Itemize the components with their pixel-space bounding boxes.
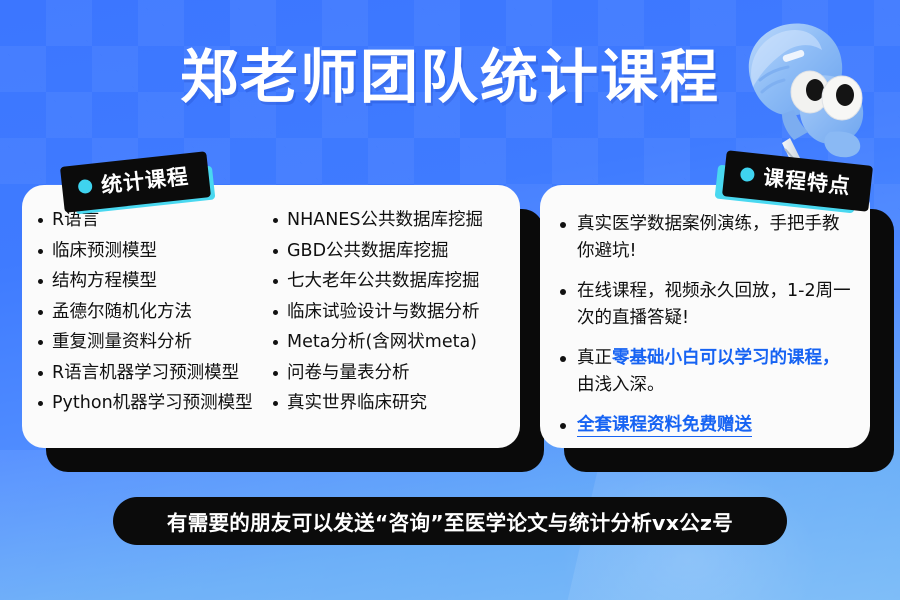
list-item-label: 真实世界临床研究 bbox=[287, 390, 427, 416]
bullet-dot-icon bbox=[273, 279, 278, 284]
list-item-label: Meta分析(含网状meta) bbox=[287, 329, 477, 355]
list-item: 问卷与量表分析 bbox=[273, 360, 504, 386]
bullet-dot-icon bbox=[273, 218, 278, 223]
bullet-dot-icon bbox=[38, 310, 43, 315]
list-item-label: 临床预测模型 bbox=[52, 238, 157, 264]
list-item: GBD公共数据库挖掘 bbox=[273, 238, 504, 264]
bullet-dot-icon bbox=[38, 340, 43, 345]
list-item: NHANES公共数据库挖掘 bbox=[273, 207, 504, 233]
bullet-dot-icon bbox=[560, 289, 566, 295]
contact-banner-label: 有需要的朋友可以发送“咨询”至医学论文与统计分析vx公z号 bbox=[167, 506, 733, 536]
list-item-label: GBD公共数据库挖掘 bbox=[287, 238, 449, 264]
feature-item: 真实医学数据案例演练，手把手教你避坑! bbox=[560, 211, 852, 265]
statistics-courses-card: R语言 临床预测模型 结构方程模型 孟德尔随机化方法 重复测量资料分析 R语言机… bbox=[22, 185, 520, 448]
bullet-dot-icon bbox=[273, 249, 278, 254]
feature-text-plain: 在线课程，视频永久回放，1-2周一次的直播答疑! bbox=[577, 281, 851, 328]
cyan-dot-icon bbox=[740, 167, 755, 182]
poster-root: 郑老师团队统计课程 bbox=[0, 0, 900, 600]
list-item: R语言机器学习预测模型 bbox=[38, 360, 269, 386]
feature-text: 全套课程资料免费赠送 bbox=[577, 412, 752, 439]
list-item-label: 七大老年公共数据库挖掘 bbox=[287, 268, 480, 294]
list-item-label: Python机器学习预测模型 bbox=[52, 390, 253, 416]
bullet-dot-icon bbox=[273, 310, 278, 315]
list-item: Python机器学习预测模型 bbox=[38, 390, 269, 416]
feature-text-highlight: 零基础小白可以学习的课程， bbox=[612, 348, 840, 368]
course-column-1: R语言 临床预测模型 结构方程模型 孟德尔随机化方法 重复测量资料分析 R语言机… bbox=[38, 207, 269, 421]
list-item-label: 临床试验设计与数据分析 bbox=[287, 299, 480, 325]
statistics-badge-label: 统计课程 bbox=[99, 160, 190, 199]
bullet-dot-icon bbox=[38, 401, 43, 406]
list-item: 临床试验设计与数据分析 bbox=[273, 299, 504, 325]
list-item: 临床预测模型 bbox=[38, 238, 269, 264]
list-item: 孟德尔随机化方法 bbox=[38, 299, 269, 325]
list-item-label: 重复测量资料分析 bbox=[52, 329, 192, 355]
list-item: 真实世界临床研究 bbox=[273, 390, 504, 416]
list-item-label: NHANES公共数据库挖掘 bbox=[287, 207, 483, 233]
bullet-dot-icon bbox=[273, 401, 278, 406]
feature-text: 真实医学数据案例演练，手把手教你避坑! bbox=[577, 211, 852, 265]
bullet-dot-icon bbox=[560, 423, 566, 429]
bullet-dot-icon bbox=[38, 218, 43, 223]
bullet-dot-icon bbox=[38, 279, 43, 284]
bullet-dot-icon bbox=[560, 222, 566, 228]
list-item-label: 孟德尔随机化方法 bbox=[52, 299, 192, 325]
feature-item: 全套课程资料免费赠送 bbox=[560, 412, 852, 439]
feature-text-plain-suffix: 由浅入深。 bbox=[577, 375, 665, 395]
feature-text: 在线课程，视频永久回放，1-2周一次的直播答疑! bbox=[577, 278, 852, 332]
feature-text-plain: 真正 bbox=[577, 348, 612, 368]
list-item-label: R语言机器学习预测模型 bbox=[52, 360, 239, 386]
contact-banner[interactable]: 有需要的朋友可以发送“咨询”至医学论文与统计分析vx公z号 bbox=[113, 497, 787, 545]
bullet-dot-icon bbox=[560, 356, 566, 362]
feature-text-highlight-underlined: 全套课程资料免费赠送 bbox=[577, 415, 752, 437]
feature-text: 真正零基础小白可以学习的课程，由浅入深。 bbox=[577, 345, 852, 399]
course-column-2: NHANES公共数据库挖掘 GBD公共数据库挖掘 七大老年公共数据库挖掘 临床试… bbox=[273, 207, 504, 421]
list-item: Meta分析(含网状meta) bbox=[273, 329, 504, 355]
bullet-dot-icon bbox=[38, 249, 43, 254]
list-item: 重复测量资料分析 bbox=[38, 329, 269, 355]
feature-text-plain: 真实医学数据案例演练，手把手教你避坑! bbox=[577, 214, 840, 261]
cyan-dot-icon bbox=[77, 179, 92, 194]
feature-item: 在线课程，视频永久回放，1-2周一次的直播答疑! bbox=[560, 278, 852, 332]
course-features-card: 真实医学数据案例演练，手把手教你避坑! 在线课程，视频永久回放，1-2周一次的直… bbox=[540, 185, 870, 448]
bullet-dot-icon bbox=[273, 340, 278, 345]
bullet-dot-icon bbox=[38, 371, 43, 376]
features-badge-label: 课程特点 bbox=[762, 161, 853, 200]
list-item: 结构方程模型 bbox=[38, 268, 269, 294]
feature-item: 真正零基础小白可以学习的课程，由浅入深。 bbox=[560, 345, 852, 399]
list-item-label: 问卷与量表分析 bbox=[287, 360, 410, 386]
list-item-label: 结构方程模型 bbox=[52, 268, 157, 294]
bullet-dot-icon bbox=[273, 371, 278, 376]
list-item: 七大老年公共数据库挖掘 bbox=[273, 268, 504, 294]
